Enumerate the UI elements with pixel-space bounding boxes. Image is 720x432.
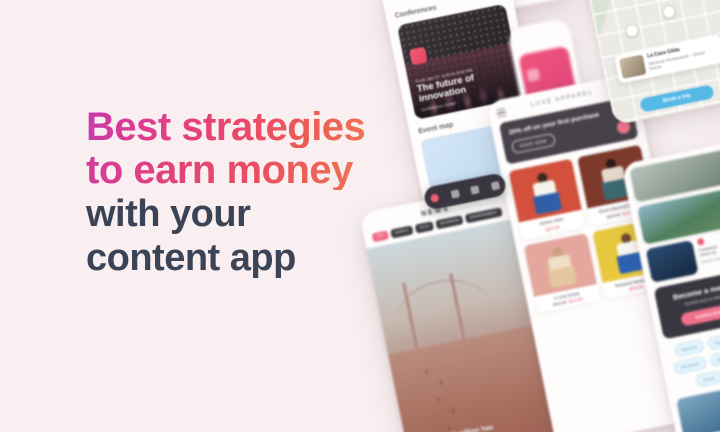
footstep — [439, 380, 442, 384]
model-figure — [538, 242, 585, 293]
tag-chip[interactable]: Forest — [695, 370, 720, 388]
promo-banner: Conferences From Jan 27, 6:00 to 9:00 PM… — [0, 0, 720, 432]
figure-bottom — [548, 265, 577, 288]
event-badge-icon — [409, 47, 428, 66]
news-tab-business[interactable]: BUSINESS — [436, 215, 464, 229]
tag-chip[interactable]: Nature — [709, 350, 720, 368]
location-pin-icon[interactable] — [470, 185, 479, 194]
hamburger-menu-icon[interactable] — [496, 108, 506, 118]
footstep — [437, 398, 440, 402]
shop-now-button[interactable]: SHOP NOW — [511, 133, 556, 154]
headline-line-2: to earn money — [86, 151, 416, 191]
tag-chip[interactable]: Beaches — [674, 339, 706, 358]
travel-photo-card[interactable] — [676, 390, 720, 432]
travel-photo-card[interactable] — [646, 240, 699, 283]
product-card[interactable]: A-Line Dress $41.99$19.99 — [524, 233, 601, 314]
footstep — [425, 369, 428, 373]
bridge-cable — [389, 272, 494, 331]
headline-line-4: content app — [86, 240, 416, 278]
travel-list-text: Featured close by Read more — [697, 229, 720, 272]
calendar-icon[interactable] — [450, 189, 459, 198]
news-tab-tech[interactable]: TECH — [415, 221, 435, 233]
hero-headline: Best strategies to earn money with your … — [86, 108, 416, 277]
footstep — [451, 409, 454, 413]
product-card[interactable]: Denim Skirt $23.99 — [509, 159, 586, 240]
tag-chip[interactable]: Mountains — [673, 356, 707, 375]
place-thumbnail — [619, 55, 647, 79]
model-figure — [523, 168, 570, 219]
figure-bottom — [533, 192, 562, 215]
home-icon[interactable] — [430, 193, 439, 202]
category-dot-icon — [697, 238, 705, 246]
headline-line-1: Best strategies — [86, 108, 416, 148]
headline-line-3: with your — [86, 196, 416, 234]
event-badge2-icon — [526, 68, 540, 82]
profile-icon[interactable] — [490, 181, 499, 190]
footstep — [447, 427, 450, 431]
promo-text: 20% off on your first purchase — [508, 106, 625, 136]
news-tab-environment[interactable]: ENVIRONMENT — [465, 207, 502, 223]
tag-chip[interactable]: Sport — [707, 333, 720, 350]
